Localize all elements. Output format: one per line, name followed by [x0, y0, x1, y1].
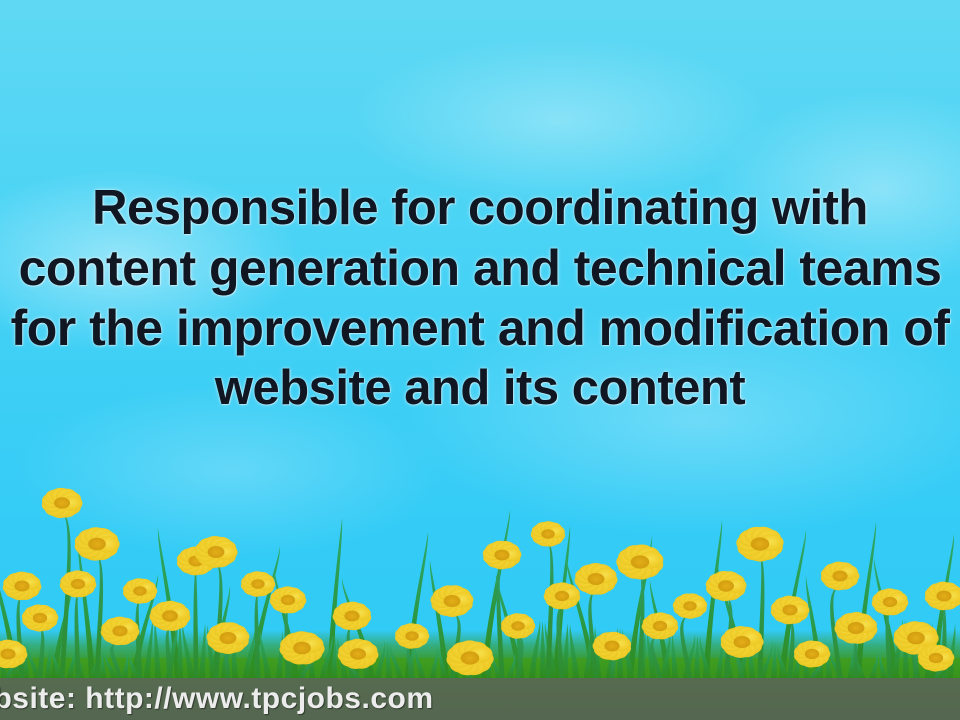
grass-blade: [430, 645, 438, 678]
grass-blade: [390, 642, 403, 678]
grass-blade: [67, 646, 76, 678]
flower-center: [461, 651, 479, 664]
flower-center: [494, 550, 509, 561]
flower-center: [162, 610, 178, 621]
flower-center: [112, 626, 127, 637]
flower-center: [33, 613, 47, 623]
dandelion-flower: [673, 593, 707, 618]
dandelion-flower: [483, 541, 522, 570]
dandelion-flower: [544, 582, 581, 609]
grass-blade: [199, 624, 206, 678]
flower-stem: [37, 627, 44, 679]
flower-center: [718, 580, 734, 591]
flower-center: [133, 586, 146, 596]
flower-stem: [680, 614, 692, 678]
flower-center: [88, 538, 106, 551]
dandelion-flower: [794, 640, 830, 667]
flower-center: [220, 632, 237, 644]
dandelion-flower: [706, 571, 747, 601]
grass-blade: [122, 651, 128, 678]
flower-center: [444, 595, 461, 607]
flower-center: [653, 621, 667, 631]
flower-center: [588, 573, 605, 585]
flower-center: [54, 497, 70, 508]
flower-center: [0, 649, 15, 660]
flower-stem: [757, 555, 764, 678]
grass-blade: [260, 630, 271, 678]
flower-center: [344, 611, 359, 622]
flower-center: [14, 581, 29, 592]
dandelion-flower: [338, 639, 379, 669]
grass-blade: [672, 633, 678, 678]
flower-center: [751, 537, 769, 550]
flower-center: [293, 642, 311, 655]
grass-blade: [430, 560, 449, 678]
grass-blade: [415, 644, 426, 678]
dandelion-flower: [821, 562, 859, 591]
dandelion-flower: [531, 521, 565, 546]
flower-center: [71, 579, 85, 589]
grass-blade: [570, 624, 580, 678]
flower-center: [350, 648, 366, 659]
meadow-svg: [0, 448, 960, 678]
dandelion-flower: [721, 626, 764, 658]
flower-center: [907, 632, 925, 645]
dandelion-flower: [280, 631, 325, 664]
flower-center: [782, 605, 797, 616]
flower-center: [848, 622, 865, 634]
flower-center: [929, 653, 943, 663]
dandelion-flower: [195, 536, 238, 568]
flower-center: [208, 546, 225, 558]
flower-center: [683, 601, 696, 611]
flower-stem: [193, 570, 198, 678]
dandelion-flower: [270, 586, 307, 613]
grass-blade: [870, 651, 878, 678]
flower-center: [541, 529, 554, 539]
dandelion-flower: [3, 572, 42, 601]
flower-center: [251, 579, 264, 589]
dandelion-flower: [42, 488, 83, 518]
dandelion-flower: [834, 612, 877, 644]
flower-center: [405, 631, 418, 641]
flower-stem: [213, 562, 222, 678]
dandelion-flower: [575, 563, 618, 595]
dandelion-flower: [150, 601, 191, 631]
flower-center: [883, 597, 897, 607]
flower-center: [832, 571, 847, 582]
flower-center: [555, 591, 569, 601]
grass-blade: [848, 649, 854, 678]
grass-blade: [879, 652, 887, 678]
footer-url-bar: Website: http://www.tpcjobs.com: [0, 678, 960, 720]
flower-stem: [75, 593, 81, 679]
dandelion-flower: [872, 588, 909, 615]
grass-blade: [45, 644, 51, 678]
flower-center: [936, 591, 951, 602]
dandelion-flower: [736, 527, 783, 562]
dandelion-flower: [501, 613, 535, 638]
flower-center: [511, 621, 524, 631]
dandelion-flower: [333, 602, 372, 631]
dandelion-flower: [206, 622, 249, 654]
dandelion-flower: [642, 612, 679, 639]
dandelion-flower: [925, 582, 960, 611]
dandelion-flower: [101, 617, 140, 646]
flower-blooms-group: [0, 488, 960, 675]
dandelion-flower: [60, 570, 97, 597]
video-slide: Responsible for coordinating with conten…: [0, 0, 960, 720]
flower-center: [805, 649, 819, 659]
flower-center: [734, 636, 751, 648]
dandelion-flower: [771, 596, 810, 625]
flower-center: [631, 555, 649, 568]
dandelion-flower: [75, 527, 120, 560]
flower-center: [281, 595, 295, 605]
grass-blade: [386, 641, 392, 678]
dandelion-flower: [395, 623, 429, 648]
flower-center: [604, 641, 619, 652]
dandelion-flower: [616, 545, 663, 580]
dandelion-flower: [22, 605, 59, 632]
footer-url-text: Website: http://www.tpcjobs.com: [0, 682, 434, 716]
dandelion-meadow: [0, 448, 960, 678]
grass-blade: [182, 623, 194, 678]
